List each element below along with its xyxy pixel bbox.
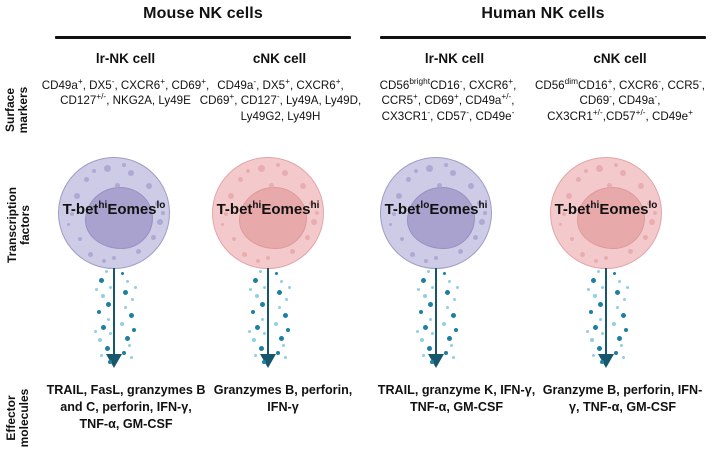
cell-granule	[643, 235, 648, 240]
secreted-molecule-dot	[95, 288, 98, 291]
effector-molecules-mouse-cnk: Granzymes B, perforin, IFN-γ	[208, 382, 358, 416]
secreted-molecule-dot	[448, 280, 451, 283]
down-arrow-icon-human-lr-nk	[401, 268, 471, 378]
secreted-molecule-dot	[286, 328, 290, 332]
cell-granule	[146, 183, 152, 189]
cell-granule	[291, 195, 295, 199]
secreted-molecule-dot	[107, 318, 110, 321]
cell-granule	[246, 169, 250, 173]
secreted-molecule-dot	[255, 294, 259, 298]
secreted-molecule-dot	[130, 356, 133, 359]
secreted-molecule-dot	[421, 278, 426, 283]
secreted-molecule-dot	[429, 318, 432, 321]
secreted-molecule-dot	[416, 330, 419, 333]
secreted-molecule-dot	[613, 272, 616, 275]
nk-cell-icon-mouse-lr-nk: T-bethiEomeslo	[58, 157, 170, 269]
cell-nucleus	[407, 187, 475, 249]
down-arrow-icon-mouse-cnk	[233, 268, 303, 378]
secreted-molecule-dot	[444, 351, 448, 355]
cell-granule	[78, 237, 82, 241]
effector-molecules-mouse-lr-nk: TRAIL, FasL, granzymes B and C, perforin…	[46, 382, 206, 433]
cell-granule	[620, 170, 626, 176]
secreted-molecule-dot	[589, 310, 593, 314]
cell-granule	[88, 252, 93, 257]
nk-cell-icon-human-lr-nk: T-betloEomeshi	[380, 157, 492, 269]
transcription-factor-label-human-cnk: T-bethiEomeslo	[536, 201, 676, 218]
group-title-mouse: Mouse NK cells	[55, 5, 351, 23]
secreted-molecule-dot	[428, 302, 433, 307]
cell-granule	[426, 165, 433, 172]
secreted-molecule-dot	[442, 322, 446, 326]
secreted-molecule-dot	[284, 356, 287, 359]
cell-granule	[276, 163, 280, 167]
secreted-molecule-dot	[254, 354, 257, 357]
secreted-molecule-dot	[601, 332, 604, 335]
cell-granule	[580, 252, 585, 257]
cell-granule	[151, 235, 156, 240]
cell-granule	[410, 252, 415, 257]
cell-granule	[458, 249, 463, 254]
secreted-molecule-dot	[624, 328, 628, 332]
arrow-shaft	[435, 268, 437, 358]
secreted-molecule-dot	[620, 344, 623, 347]
cell-granule	[311, 219, 317, 225]
secreted-molecule-dot	[431, 286, 434, 289]
secreted-molecule-dot	[106, 302, 111, 307]
secreted-molecule-dot	[129, 313, 134, 318]
transcription-factor-label-mouse-cnk: T-bethiEomeshi	[198, 201, 338, 218]
down-arrow-icon-mouse-lr-nk	[79, 268, 149, 378]
column-header-mouse-lr-nk: lr-NK cell	[58, 51, 193, 66]
cell-granule	[629, 195, 633, 199]
secreted-molecule-dot	[255, 325, 260, 330]
cell-granule	[102, 259, 106, 263]
secreted-molecule-dot	[94, 330, 97, 333]
secreted-molecule-dot	[430, 360, 434, 364]
secreted-molecule-dot	[420, 338, 424, 342]
surface-markers-mouse-lr-nk: CD49a+, DX5-, CXCR6+, CD69+, CD127+/-, N…	[38, 78, 213, 109]
row-label-transcription-factors: Transcription factors	[6, 170, 32, 280]
cell-granule	[221, 223, 224, 226]
cell-granule	[559, 223, 562, 226]
secreted-molecule-dot	[97, 310, 101, 314]
secreted-molecule-dot	[601, 286, 604, 289]
arrow-shaft	[267, 268, 269, 358]
secreted-molecule-dot	[456, 286, 459, 289]
secreted-molecule-dot	[417, 288, 420, 291]
secreted-molecule-dot	[249, 288, 252, 291]
secreted-molecule-dot	[447, 336, 452, 341]
secreted-molecule-dot	[423, 294, 427, 298]
cell-granule	[594, 259, 598, 263]
cell-granule	[228, 193, 234, 199]
secreted-molecule-dot	[453, 298, 456, 301]
secreted-molecule-dot	[598, 302, 603, 307]
cell-granule	[238, 177, 243, 182]
cell-granule	[266, 256, 270, 260]
secreted-molecule-dot	[105, 270, 108, 273]
cell-granule	[614, 163, 618, 167]
down-arrow-icon-human-cnk	[571, 268, 641, 378]
secreted-molecule-dot	[592, 354, 595, 357]
secreted-molecule-dot	[131, 298, 134, 301]
row-label-surface-markers: Surface markers	[4, 55, 30, 165]
secreted-molecule-dot	[274, 322, 278, 326]
cell-granule	[242, 252, 247, 257]
nk-cell-comparison-figure: Mouse NK cells Human NK cells Surface ma…	[0, 0, 714, 465]
secreted-molecule-dot	[109, 332, 112, 335]
secreted-molecule-dot	[443, 272, 446, 275]
arrow-shaft	[113, 268, 115, 358]
cell-granule	[305, 235, 310, 240]
secreted-molecule-dot	[283, 313, 288, 318]
cell-granule	[400, 237, 404, 241]
surface-markers-human-lr-nk: CD56brightCD16-, CXCR6+, CCR5+, CD69+, C…	[364, 78, 532, 124]
cell-granule	[604, 256, 608, 260]
cell-granule	[437, 183, 442, 188]
cell-granule	[136, 249, 141, 254]
secreted-molecule-dot	[101, 325, 106, 330]
secreted-molecule-dot	[248, 330, 251, 333]
secreted-molecule-dot	[132, 328, 136, 332]
secreted-molecule-dot	[446, 306, 449, 309]
cell-granule	[607, 183, 612, 188]
secreted-molecule-dot	[98, 338, 102, 342]
nk-cell-icon-mouse-cnk: T-bethiEomeshi	[212, 157, 324, 269]
column-header-human-lr-nk: lr-NK cell	[382, 51, 527, 66]
cell-granule	[450, 170, 456, 176]
effector-molecules-human-lr-nk: TRAIL, granzyme K, IFN-γ, TNF-α, GM-CSF	[374, 382, 539, 416]
secreted-molecule-dot	[427, 346, 432, 351]
secreted-molecule-dot	[618, 280, 621, 283]
secreted-molecule-dot	[612, 322, 616, 326]
cell-granule	[406, 177, 411, 182]
secreted-molecule-dot	[125, 336, 130, 341]
cell-granule	[649, 219, 655, 225]
cell-granule	[282, 170, 288, 176]
cell-nucleus	[577, 187, 645, 249]
cell-granule	[468, 183, 474, 189]
cell-granule	[638, 183, 644, 189]
secreted-molecule-dot	[288, 286, 291, 289]
cell-granule	[269, 183, 274, 188]
secreted-molecule-dot	[626, 286, 629, 289]
cell-granule	[434, 256, 438, 260]
secreted-molecule-dot	[597, 346, 602, 351]
secreted-molecule-dot	[431, 332, 434, 335]
secreted-molecule-dot	[587, 288, 590, 291]
secreted-molecule-dot	[282, 344, 285, 347]
secreted-molecule-dot	[279, 336, 284, 341]
secreted-molecule-dot	[599, 318, 602, 321]
secreted-molecule-dot	[586, 330, 589, 333]
effector-molecules-human-cnk: Granzyme B, perforin, IFN-γ, TNF-α, GM-C…	[540, 382, 705, 416]
cell-granule	[112, 256, 116, 260]
secreted-molecule-dot	[285, 298, 288, 301]
column-header-mouse-cnk: cNK cell	[212, 51, 347, 66]
cell-granule	[115, 183, 120, 188]
cell-granule	[473, 235, 478, 240]
cell-granule	[414, 169, 418, 173]
secreted-molecule-dot	[105, 346, 110, 351]
cell-granule	[570, 237, 574, 241]
cell-granule	[256, 259, 260, 263]
secreted-molecule-dot	[101, 294, 105, 298]
cell-granule	[584, 169, 588, 173]
secreted-molecule-dot	[590, 338, 594, 342]
secreted-molecule-dot	[280, 280, 283, 283]
secreted-molecule-dot	[615, 290, 620, 295]
cell-granule	[67, 223, 70, 226]
secreted-molecule-dot	[450, 344, 453, 347]
cell-granule	[157, 219, 163, 225]
secreted-molecule-dot	[617, 336, 622, 341]
cell-granule	[596, 165, 603, 172]
cell-granule	[258, 165, 265, 172]
secreted-molecule-dot	[259, 346, 264, 351]
cell-granule	[232, 237, 236, 241]
secreted-molecule-dot	[452, 356, 455, 359]
secreted-molecule-dot	[616, 306, 619, 309]
secreted-molecule-dot	[122, 351, 126, 355]
cell-granule	[290, 249, 295, 254]
secreted-molecule-dot	[134, 286, 137, 289]
cell-granule	[104, 165, 111, 172]
secreted-molecule-dot	[126, 280, 129, 283]
secreted-molecule-dot	[262, 360, 266, 364]
secreted-molecule-dot	[109, 286, 112, 289]
secreted-molecule-dot	[597, 270, 600, 273]
secreted-molecule-dot	[621, 313, 626, 318]
cell-granule	[122, 163, 126, 167]
cell-granule	[300, 183, 306, 189]
cell-granule	[92, 169, 96, 173]
secreted-molecule-dot	[591, 278, 596, 283]
cell-granule	[137, 195, 141, 199]
cell-granule	[128, 170, 134, 176]
secreted-molecule-dot	[120, 322, 124, 326]
secreted-molecule-dot	[251, 310, 255, 314]
secreted-molecule-dot	[108, 360, 112, 364]
secreted-molecule-dot	[419, 310, 423, 314]
cell-granule	[479, 219, 485, 225]
secreted-molecule-dot	[128, 344, 131, 347]
transcription-factor-label-mouse-lr-nk: T-bethiEomeslo	[44, 201, 184, 218]
nk-cell-icon-human-cnk: T-bethiEomeslo	[550, 157, 662, 269]
secreted-molecule-dot	[275, 272, 278, 275]
secreted-molecule-dot	[622, 356, 625, 359]
secreted-molecule-dot	[427, 270, 430, 273]
secreted-molecule-dot	[277, 290, 282, 295]
secreted-molecule-dot	[451, 313, 456, 318]
secreted-molecule-dot	[422, 354, 425, 357]
group-divider-human	[380, 36, 706, 39]
secreted-molecule-dot	[278, 306, 281, 309]
surface-markers-human-cnk: CD56dimCD16+, CXCR6-, CCR5-, CD69-, CD49…	[530, 78, 710, 124]
secreted-molecule-dot	[593, 325, 598, 330]
cell-granule	[389, 223, 392, 226]
cell-nucleus	[85, 187, 153, 249]
secreted-molecule-dot	[124, 306, 127, 309]
secreted-molecule-dot	[121, 272, 124, 275]
secreted-molecule-dot	[276, 351, 280, 355]
secreted-molecule-dot	[253, 278, 258, 283]
secreted-molecule-dot	[600, 360, 604, 364]
cell-granule	[459, 195, 463, 199]
secreted-molecule-dot	[423, 325, 428, 330]
secreted-molecule-dot	[454, 328, 458, 332]
cell-granule	[424, 259, 428, 263]
column-header-human-cnk: cNK cell	[545, 51, 695, 66]
cell-granule	[74, 193, 80, 199]
secreted-molecule-dot	[252, 338, 256, 342]
secreted-molecule-dot	[259, 270, 262, 273]
cell-granule	[566, 193, 572, 199]
cell-nucleus	[239, 187, 307, 249]
transcription-factor-label-human-lr-nk: T-betloEomeshi	[366, 201, 506, 218]
secreted-molecule-dot	[623, 298, 626, 301]
secreted-molecule-dot	[593, 294, 597, 298]
cell-granule	[628, 249, 633, 254]
group-title-human: Human NK cells	[380, 5, 706, 23]
row-label-effector-molecules: Effector molecules	[5, 363, 31, 473]
secreted-molecule-dot	[263, 286, 266, 289]
secreted-molecule-dot	[614, 351, 618, 355]
arrow-shaft	[605, 268, 607, 358]
secreted-molecule-dot	[100, 354, 103, 357]
secreted-molecule-dot	[99, 278, 104, 283]
cell-granule	[576, 177, 581, 182]
cell-granule	[444, 163, 448, 167]
cell-granule	[84, 177, 89, 182]
secreted-molecule-dot	[123, 290, 128, 295]
cell-granule	[396, 193, 402, 199]
surface-markers-mouse-cnk: CD49a-, DX5+, CXCR6+, CD69+, CD127-, Ly4…	[198, 78, 363, 124]
group-divider-mouse	[55, 36, 351, 39]
secreted-molecule-dot	[260, 302, 265, 307]
secreted-molecule-dot	[261, 318, 264, 321]
secreted-molecule-dot	[263, 332, 266, 335]
secreted-molecule-dot	[445, 290, 450, 295]
